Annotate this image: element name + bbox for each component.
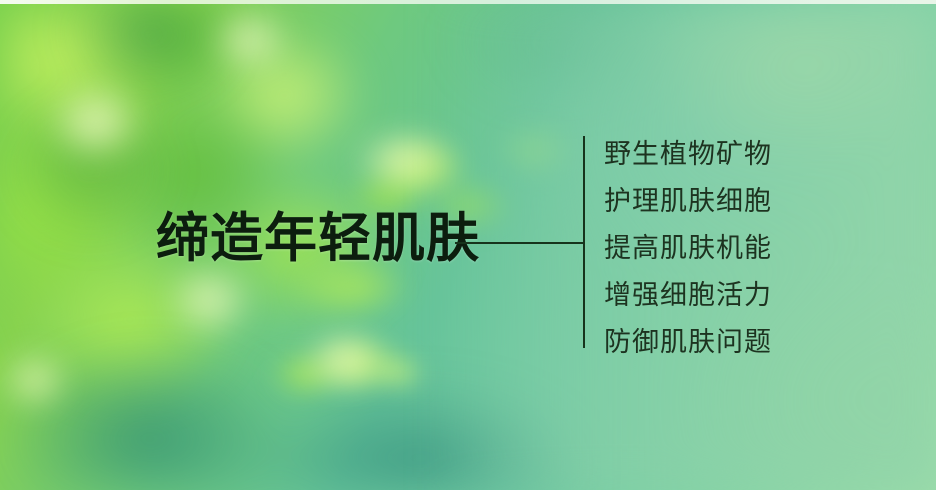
horizontal-rule [455, 242, 585, 244]
list-item: 护理肌肤细胞 [604, 178, 772, 225]
list-item: 提高肌肤机能 [604, 225, 772, 272]
promo-banner: 缔造年轻肌肤 野生植物矿物 护理肌肤细胞 提高肌肤机能 增强细胞活力 防御肌肤问… [0, 0, 936, 490]
benefit-list: 野生植物矿物 护理肌肤细胞 提高肌肤机能 增强细胞活力 防御肌肤问题 [604, 131, 772, 366]
vertical-divider-rule [583, 136, 585, 348]
list-item: 防御肌肤问题 [604, 319, 772, 366]
list-item: 增强细胞活力 [604, 272, 772, 319]
background-top-strip [0, 0, 936, 4]
headline-text: 缔造年轻肌肤 [156, 207, 480, 271]
list-item: 野生植物矿物 [604, 131, 772, 178]
